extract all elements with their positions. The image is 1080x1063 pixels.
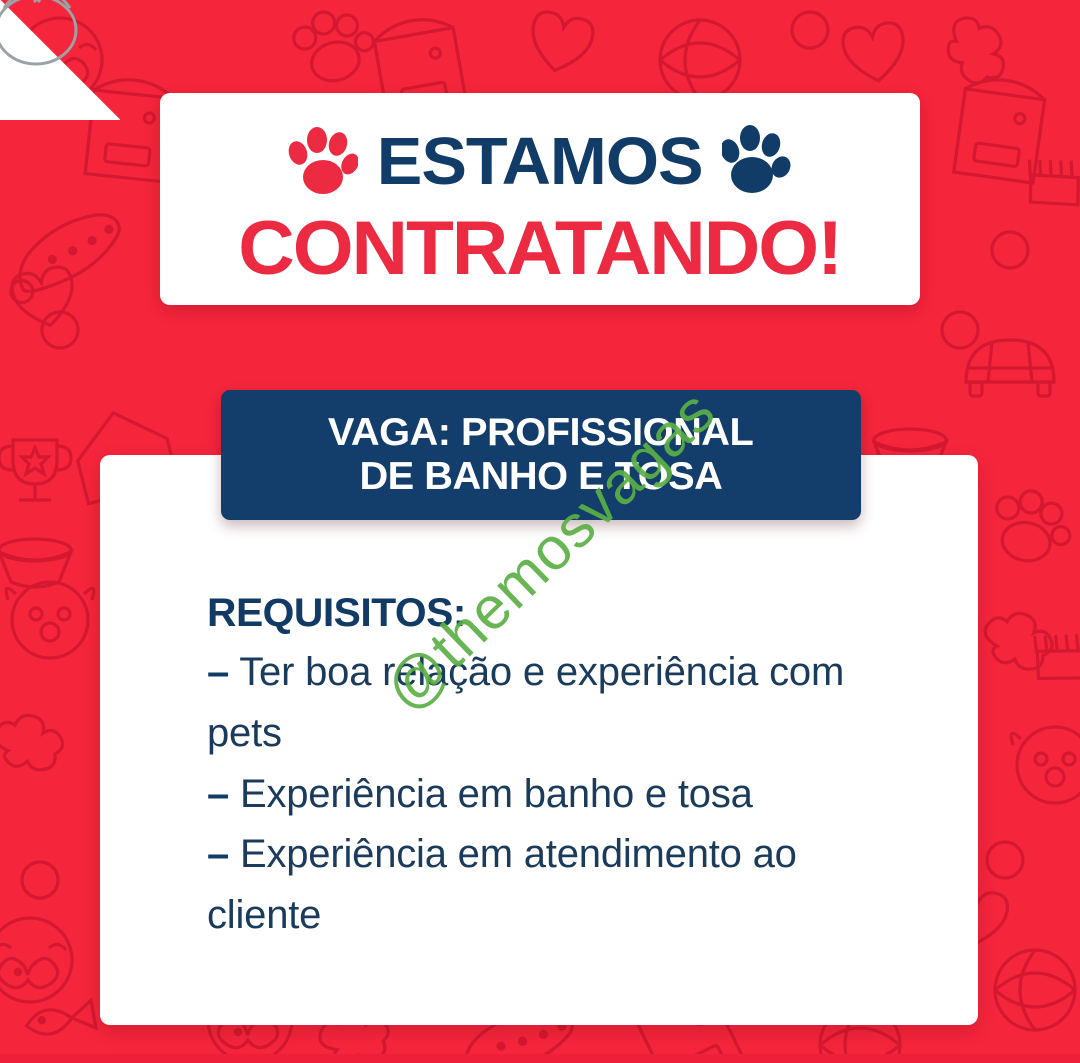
vacancy-title-line-1: VAGA: PROFISSIONAL xyxy=(328,411,753,455)
requirement-text: Experiência em banho e tosa xyxy=(240,772,753,816)
headline-contratando: CONTRATANDO! xyxy=(239,211,842,287)
paw-print-icon xyxy=(722,125,792,197)
job-vacancy-poster: ESTAMOS CONTRATANDO! VAGA: PROFISSIONAL … xyxy=(0,0,1080,1063)
vacancy-title-line-2: DE BANHO E TOSA xyxy=(360,455,723,499)
requirement-text: Ter boa relação e experiência com pets xyxy=(207,650,844,755)
requirement-item: – Ter boa relação e experiência com pets xyxy=(207,642,907,764)
header-card: ESTAMOS CONTRATANDO! xyxy=(160,93,920,305)
corner-doodle-icon xyxy=(0,0,104,92)
requirement-dash: – xyxy=(207,772,229,816)
requirement-item: – Experiência em atendimento ao cliente xyxy=(207,824,907,946)
paw-print-icon xyxy=(288,125,358,197)
requirement-dash: – xyxy=(207,650,229,694)
requirements-section: REQUISITOS: – Ter boa relação e experiên… xyxy=(207,592,907,946)
headline-row: ESTAMOS xyxy=(288,115,791,207)
vacancy-banner: VAGA: PROFISSIONAL DE BANHO E TOSA xyxy=(221,390,861,520)
headline-estamos: ESTAMOS xyxy=(377,128,703,195)
requirement-item: – Experiência em banho e tosa xyxy=(207,764,907,825)
requirement-text: Experiência em atendimento ao cliente xyxy=(207,832,797,937)
requirements-title: REQUISITOS: xyxy=(207,592,921,634)
requirement-dash: – xyxy=(207,832,229,876)
bottom-accent-strip xyxy=(0,1054,1080,1063)
